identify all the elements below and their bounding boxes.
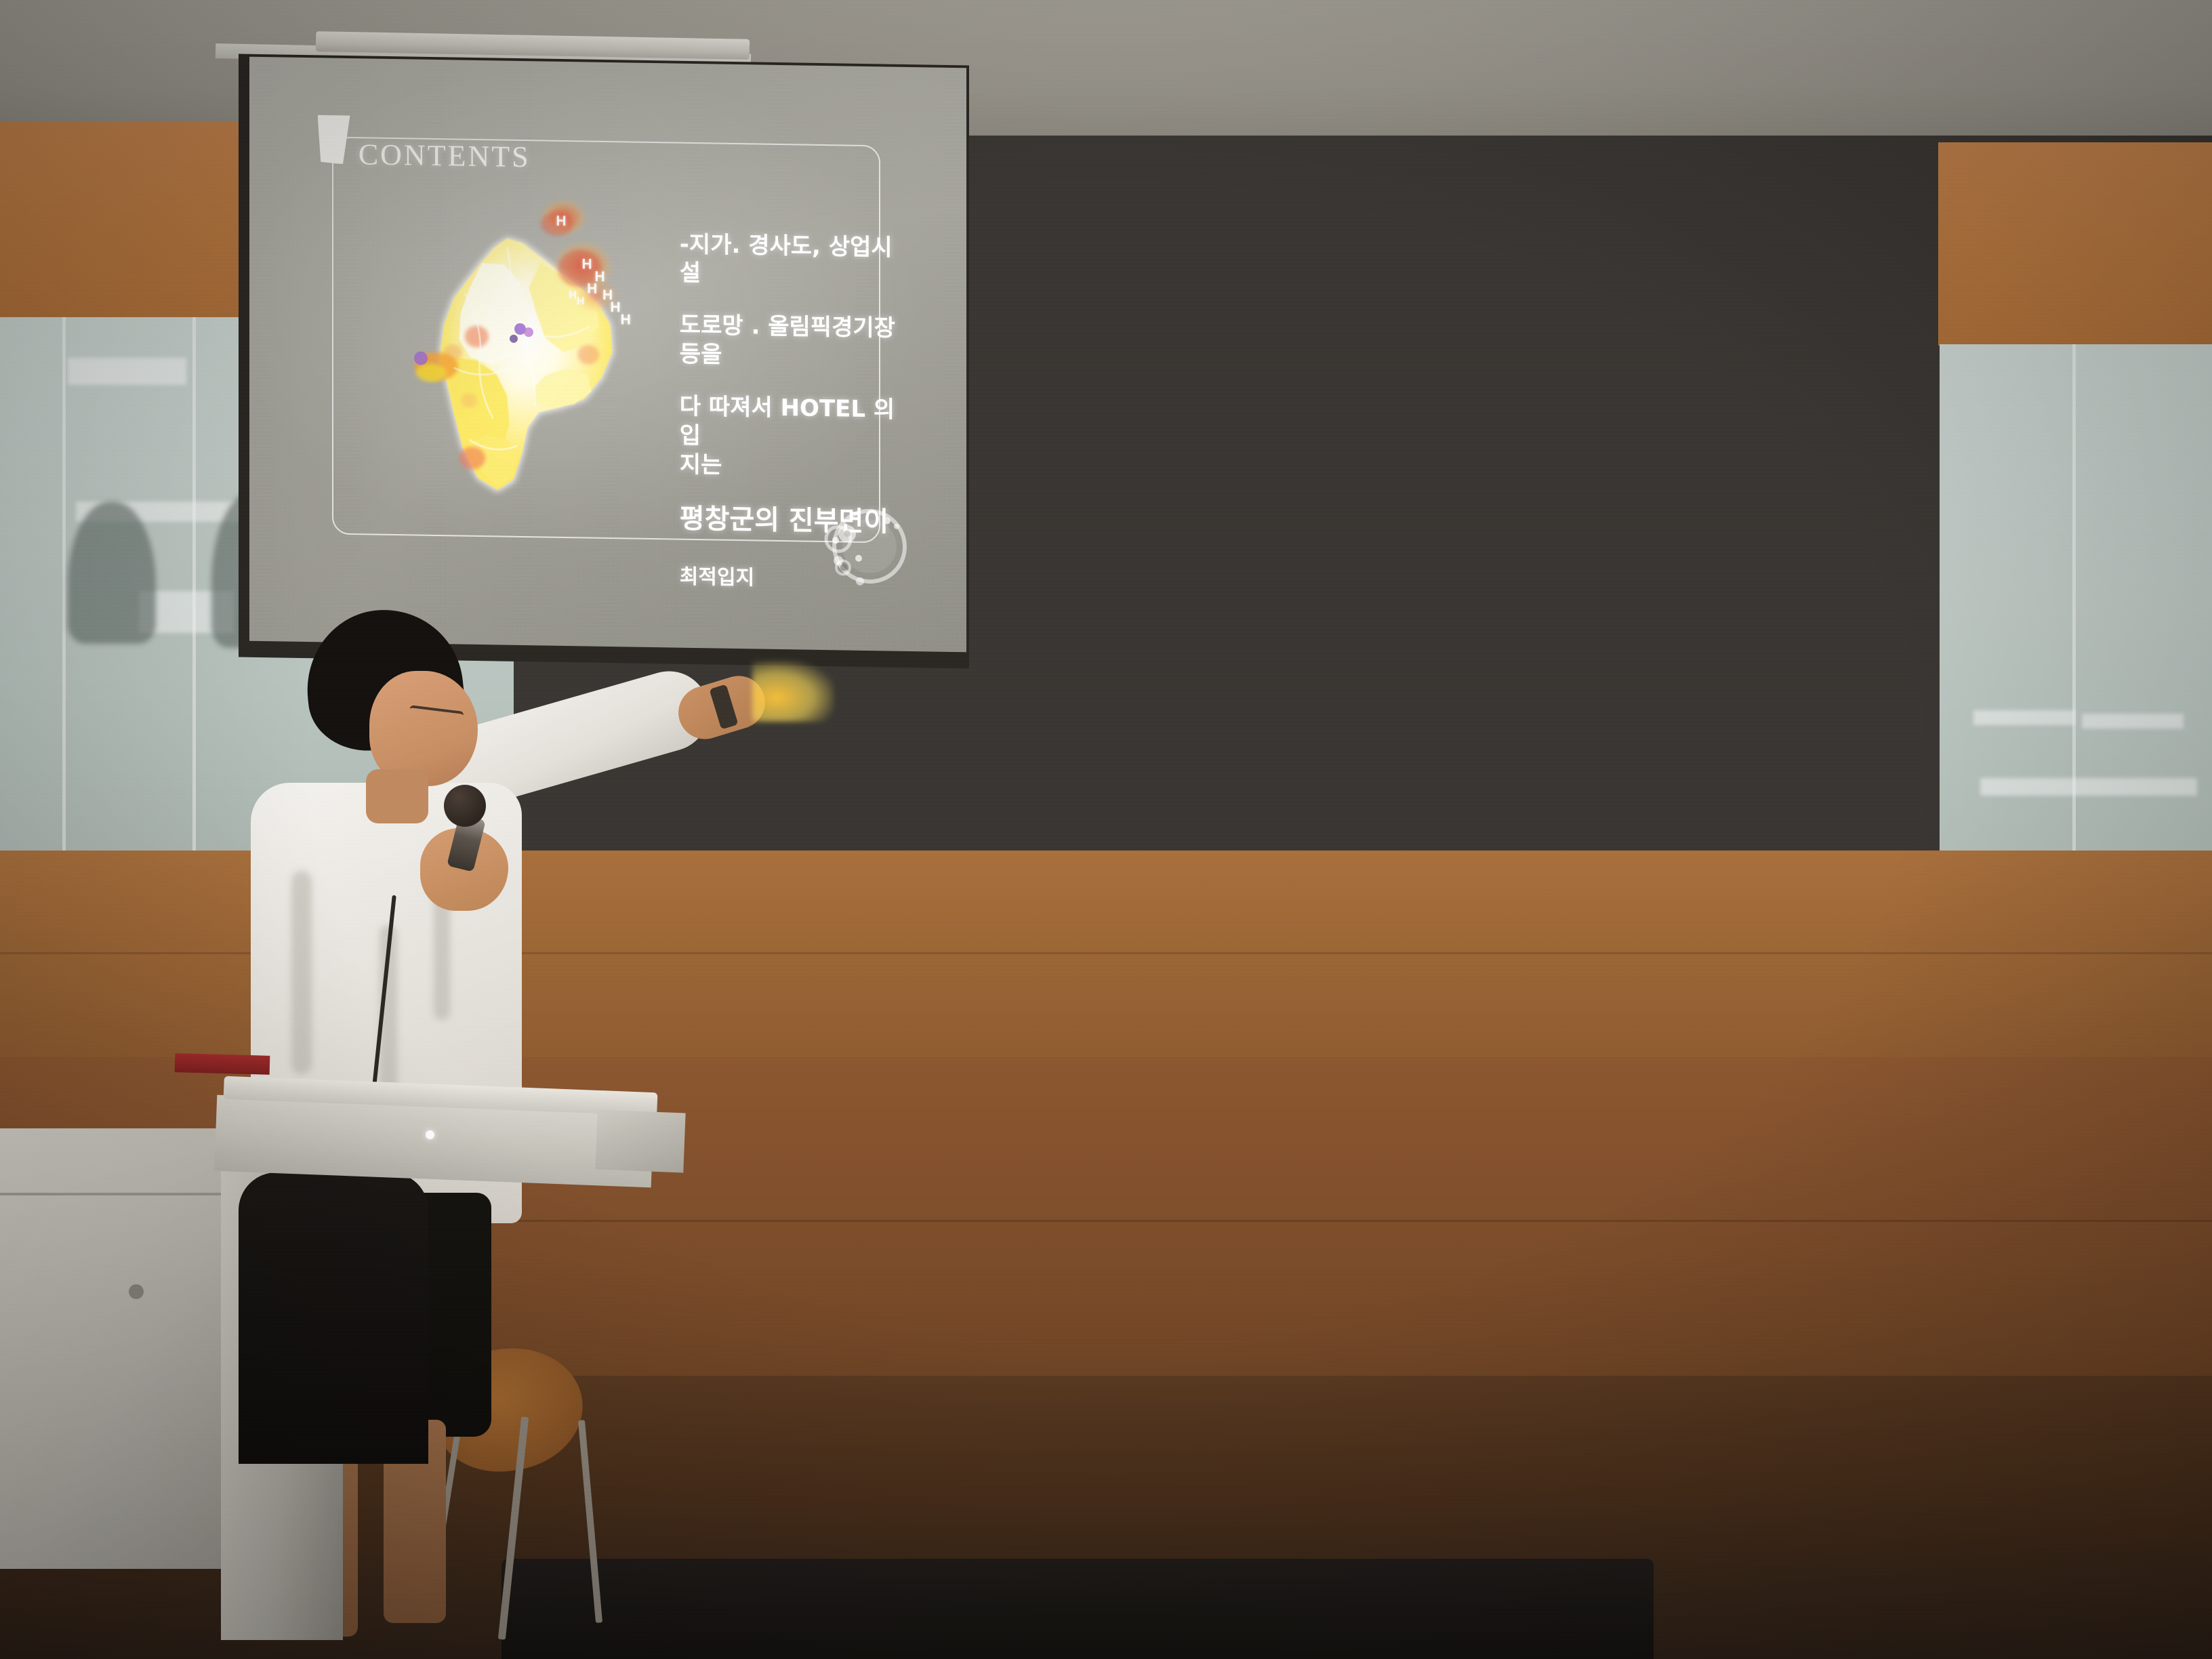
counter-knob[interactable] — [129, 1284, 144, 1299]
heatmap-map: H H H H H H H H H — [386, 193, 644, 501]
optimal-site-marker-icon — [524, 327, 533, 337]
slide-text-line-1: -지가. 경사도, 상업시설 — [680, 230, 909, 291]
lectern-status-led — [426, 1130, 434, 1139]
hotel-marker-icon: H — [621, 312, 631, 327]
lectern-panel — [239, 1172, 428, 1464]
classroom-presentation-photo: CONTENTS — [0, 0, 2212, 1659]
lectern-tray — [595, 1110, 685, 1173]
page-title: CONTENTS — [359, 137, 531, 174]
slide-text-line-2: 도로망 . 올림픽경기장 등을 — [680, 311, 909, 373]
pointing-hand — [752, 661, 834, 722]
hotel-marker-icon: H — [556, 214, 566, 228]
counter-edge — [0, 1193, 244, 1195]
frosted-glass-partition-right — [1940, 344, 2212, 859]
red-book[interactable] — [175, 1053, 270, 1075]
slide-text-line-3: 다 따져서 HOTEL 의 입 지는 — [680, 392, 909, 483]
hotel-marker-icon: H — [577, 296, 585, 307]
wall-wood-panel-right — [1938, 142, 2212, 346]
projection-screen[interactable]: CONTENTS — [249, 57, 966, 653]
microphone-icon — [444, 785, 486, 827]
hotel-marker-icon: H — [569, 290, 577, 301]
gangwon-choropleth-svg — [386, 193, 644, 501]
floor-mat — [501, 1559, 1654, 1659]
hotel-marker-icon: H — [610, 300, 620, 314]
audience-silhouette — [68, 501, 156, 644]
presenter-neck — [366, 769, 428, 823]
hotel-marker-icon: H — [587, 281, 597, 295]
bubble-circle-decoration-icon — [811, 495, 913, 598]
hotel-marker-icon: H — [581, 257, 592, 271]
